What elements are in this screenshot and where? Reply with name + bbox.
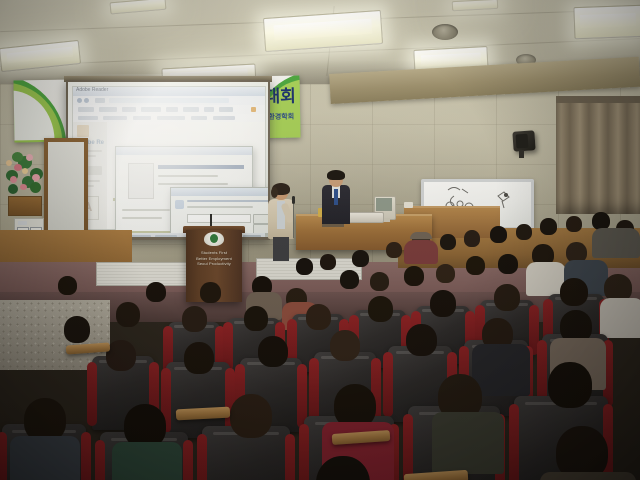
audience-head (64, 316, 90, 343)
audience-head (386, 242, 402, 258)
speaker-bracket (519, 150, 524, 158)
window-title-bar: Adobe Reader (73, 87, 265, 96)
audience-torso (112, 442, 182, 480)
audience-head (244, 306, 268, 331)
audience-head (490, 226, 507, 243)
audience-head (352, 250, 369, 267)
speaker-cone (516, 134, 529, 149)
audience-head (340, 270, 359, 289)
audience-head (494, 284, 520, 311)
audience-head (182, 306, 207, 332)
presenter-woman-hair (271, 187, 278, 198)
audience-head (58, 276, 77, 295)
audience-head (306, 304, 331, 330)
audience-area (0, 210, 640, 480)
projected-application-window: Adobe Reader (72, 86, 266, 230)
audience-head (430, 290, 456, 317)
audience-torso (540, 472, 636, 480)
audience-head (498, 254, 518, 274)
audience-head (440, 234, 456, 250)
audience-head (146, 282, 166, 302)
audience-torso (10, 436, 80, 480)
presenter-man-hair (327, 170, 345, 180)
audience-head (320, 254, 336, 270)
audience-head (464, 230, 480, 247)
audience-torso (592, 228, 640, 258)
dialog-title-bar (116, 147, 252, 155)
dialog-title-bar (171, 188, 268, 196)
flower-arrangement (4, 146, 46, 198)
audience-head (540, 218, 557, 235)
lecture-hall-photo: 2 일시 술대회 부경환경학회 Adobe Reader (0, 0, 640, 480)
audience-head (296, 258, 313, 275)
audience-head (368, 296, 393, 322)
audience-head (436, 264, 455, 283)
audience-head (466, 256, 485, 275)
audience-head (566, 216, 582, 232)
curtain-rail (556, 96, 640, 103)
audience-head (316, 456, 370, 480)
audience-torso (600, 298, 640, 338)
dialog-heading-bar (158, 165, 244, 169)
audience-torso (432, 412, 504, 474)
audience-head (258, 336, 288, 367)
handheld-microphone (292, 196, 295, 204)
audience-head (516, 224, 532, 240)
warning-icon (175, 200, 184, 209)
audience-head (184, 342, 214, 374)
audience-head (200, 282, 221, 303)
ceiling-light (573, 5, 640, 39)
window-title-text: Adobe Reader (76, 87, 108, 93)
audience-head (406, 324, 437, 356)
audience-head (106, 340, 136, 371)
seat-armrest (66, 342, 111, 354)
curtain (556, 96, 640, 214)
audience-torso (404, 240, 438, 264)
audience-head (560, 278, 588, 306)
ceiling-speaker (432, 24, 458, 40)
audience-head (230, 394, 272, 438)
presenter-man-tie (334, 189, 338, 205)
audience-head (404, 266, 424, 286)
audience-head (330, 330, 360, 361)
audience-head (370, 272, 389, 291)
dialog-preview-thumbnail (128, 163, 154, 199)
desk-item (404, 202, 413, 208)
cap-icon (410, 232, 432, 239)
audience-head (548, 362, 592, 408)
wall-speaker (512, 130, 535, 151)
audience-head (116, 302, 140, 327)
